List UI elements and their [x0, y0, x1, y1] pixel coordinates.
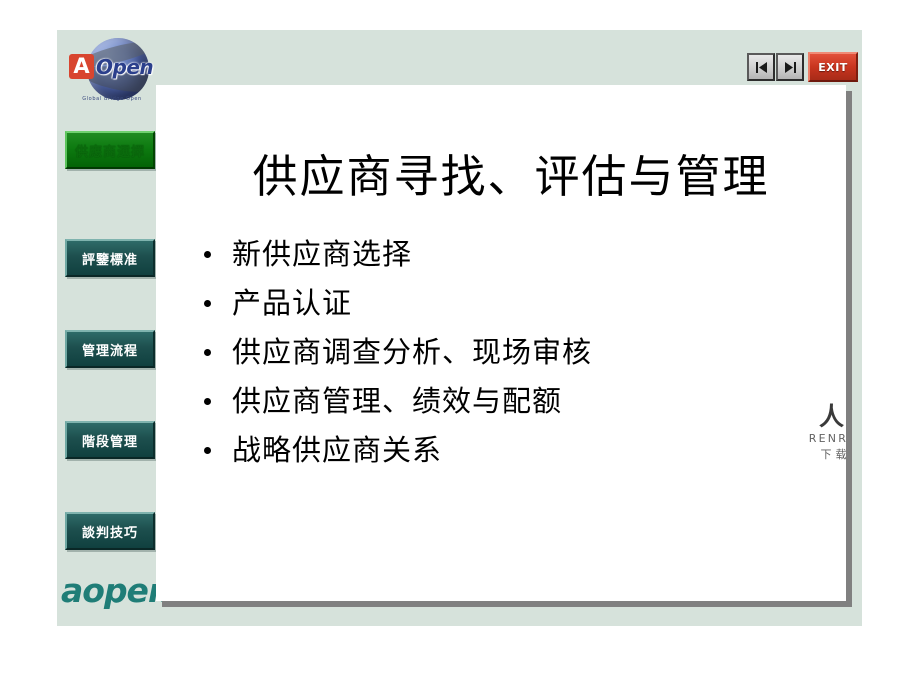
aopen-wordmark: aopen: [61, 568, 156, 614]
list-item: 战略供应商关系: [194, 426, 834, 474]
sidebar-item-label: 評鑒標准: [82, 249, 138, 268]
sidebar-item-label: 階段管理: [82, 431, 138, 450]
bullet-list: 新供应商选择 产品认证 供应商调查分析、现场审核 供应商管理、绩效与配额 战略供…: [194, 230, 834, 475]
list-item: 供应商管理、绩效与配额: [194, 377, 834, 425]
sidebar-item-management-process[interactable]: 管理流程: [65, 330, 155, 368]
slide-toolbar: EXIT: [747, 52, 858, 82]
skip-to-end-icon[interactable]: [776, 53, 804, 81]
list-item: 产品认证: [194, 279, 834, 327]
sidebar-item-label: 供應商選擇: [75, 141, 145, 160]
logo-letter-badge: A: [69, 54, 94, 79]
slide-content-panel: 供应商寻找、评估与管理 新供应商选择 产品认证 供应商调查分析、现场审核 供应商…: [156, 85, 846, 601]
slide-sidebar: A Open Global Bridge Open 供應商選擇 評鑒標准 管理流…: [57, 30, 156, 626]
sidebar-item-negotiation-skills[interactable]: 談判技巧: [65, 512, 155, 550]
sidebar-item-label: 談判技巧: [82, 522, 138, 541]
exit-button[interactable]: EXIT: [808, 52, 858, 82]
aopen-logo: A Open Global Bridge Open: [65, 36, 153, 108]
list-item: 供应商调查分析、现场审核: [194, 328, 834, 376]
page-title: 供应商寻找、评估与管理: [201, 140, 821, 205]
sidebar-item-evaluation-criteria[interactable]: 評鑒標准: [65, 239, 155, 277]
logo-wordmark-open: Open: [96, 55, 153, 79]
logo-tagline: Global Bridge Open: [79, 96, 145, 102]
skip-to-start-icon[interactable]: [747, 53, 775, 81]
list-item: 新供应商选择: [194, 230, 834, 278]
sidebar-item-supplier-selection[interactable]: 供應商選擇: [65, 131, 155, 169]
presentation-slide: A Open Global Bridge Open 供應商選擇 評鑒標准 管理流…: [57, 30, 862, 626]
sidebar-item-stage-management[interactable]: 階段管理: [65, 421, 155, 459]
sidebar-item-label: 管理流程: [82, 340, 138, 359]
